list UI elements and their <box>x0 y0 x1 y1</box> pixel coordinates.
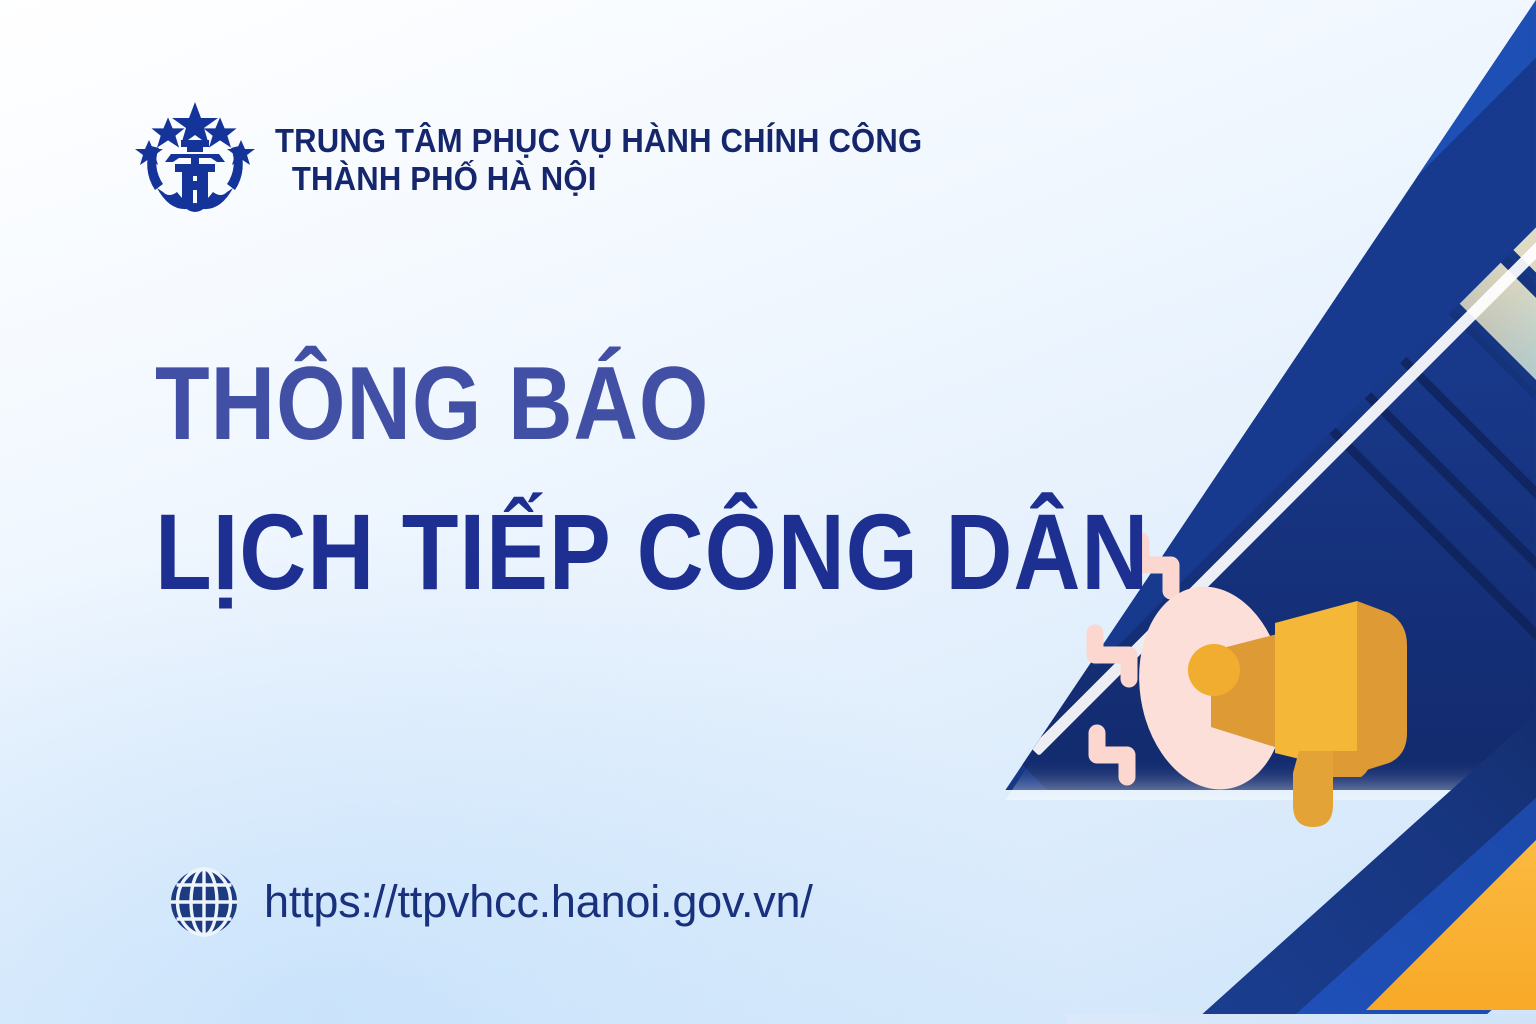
announcement-poster: TRUNG TÂM PHỤC VỤ HÀNH CHÍNH CÔNG THÀNH … <box>0 0 1536 1024</box>
brand-line-1: TRUNG TÂM PHỤC VỤ HÀNH CHÍNH CÔNG <box>275 122 922 160</box>
globe-icon <box>168 866 240 938</box>
brand-header: TRUNG TÂM PHỤC VỤ HÀNH CHÍNH CÔNG THÀNH … <box>131 96 964 218</box>
headline-line-1: THÔNG BÁO <box>155 352 1015 456</box>
hanoi-public-administration-emblem-icon <box>131 96 259 218</box>
page-title: THÔNG BÁO LỊCH TIẾP CÔNG DÂN <box>155 352 1155 606</box>
headline-line-2: LỊCH TIẾP CÔNG DÂN <box>155 498 1015 606</box>
ribbon-foot-strip <box>1066 1014 1536 1024</box>
website-footer[interactable]: https://ttpvhcc.hanoi.gov.vn/ <box>168 866 813 938</box>
brand-line-2: THÀNH PHỐ HÀ NỘI <box>275 160 922 198</box>
website-url[interactable]: https://ttpvhcc.hanoi.gov.vn/ <box>264 876 813 928</box>
